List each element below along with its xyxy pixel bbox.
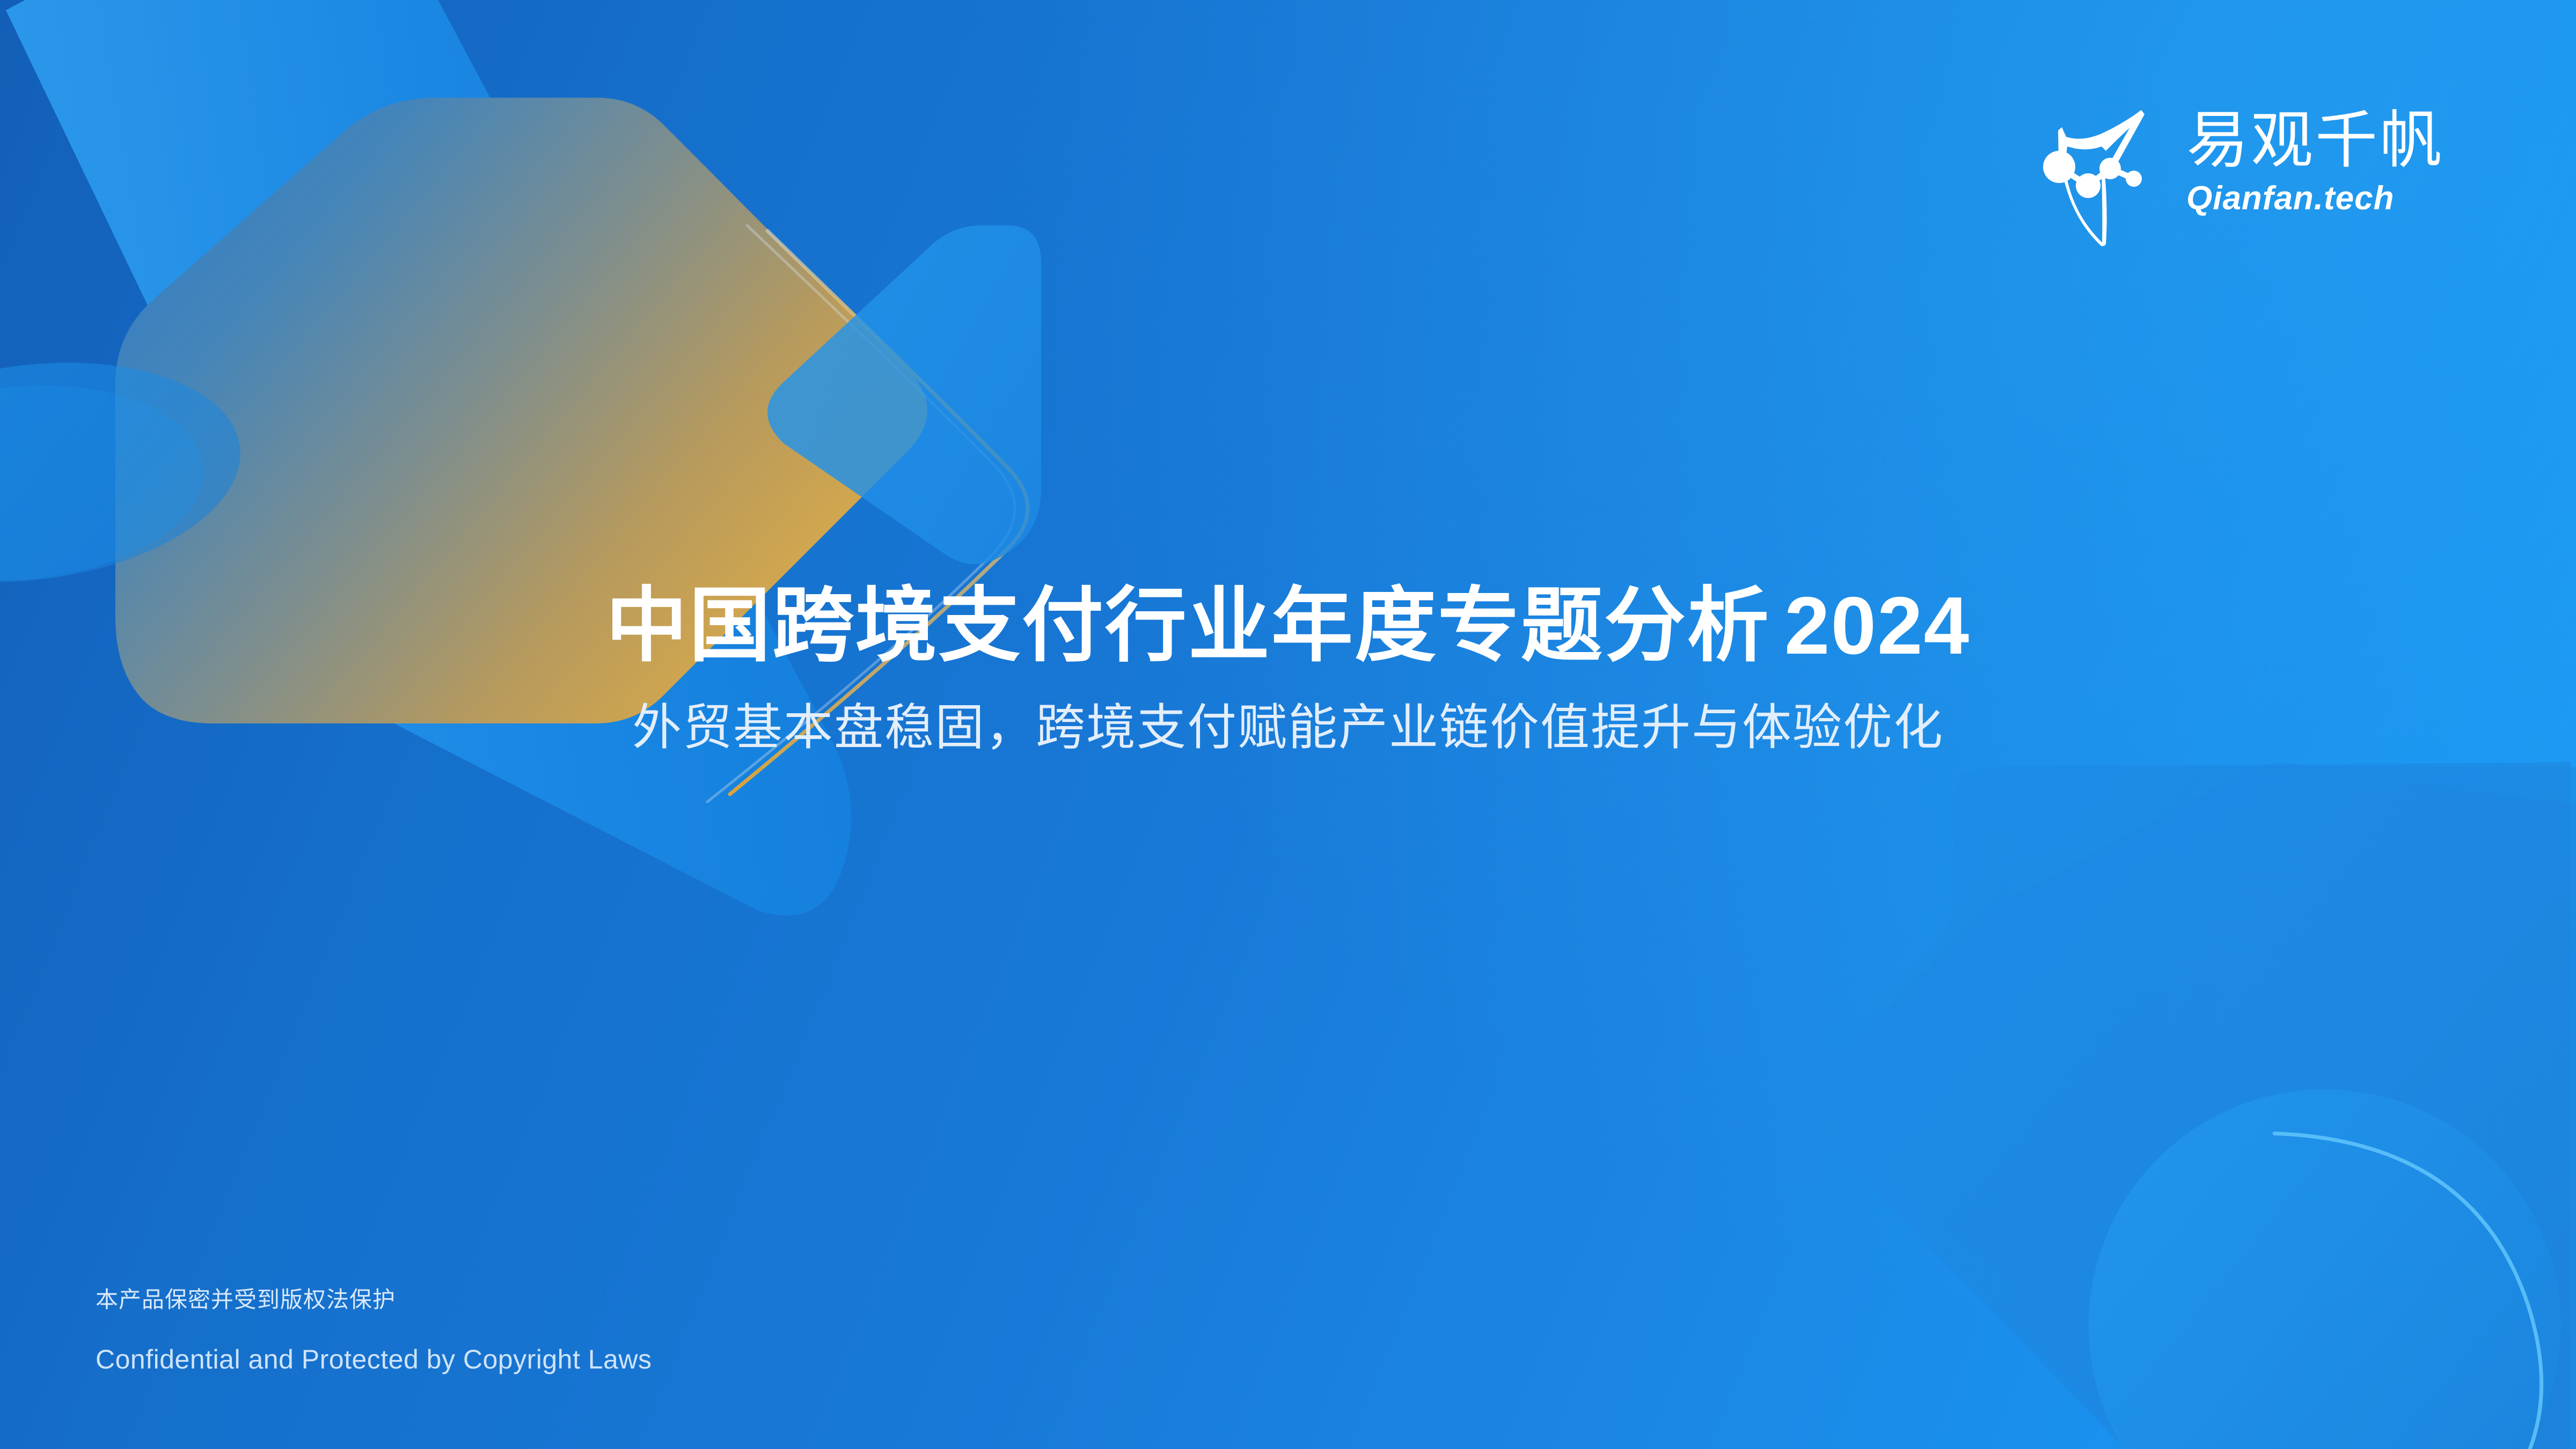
logo-chinese-name: 易观千帆 (2186, 107, 2444, 174)
main-title-text: 中国跨境支付行业年度专题分析 (606, 580, 1770, 671)
copyright-footer: 本产品保密并受到版权法保护 Confidential and Protected… (96, 1284, 652, 1378)
page-title: 中国跨境支付行业年度专题分析2024 (0, 580, 2576, 672)
qianfan-sail-network-logo-icon (2034, 99, 2168, 260)
copyright-chinese: 本产品保密并受到版权法保护 (96, 1284, 652, 1316)
logo-text: 易观千帆 Qianfan.tech (2186, 99, 2444, 217)
title-year: 2024 (1770, 580, 1970, 671)
slide-canvas: 易观千帆 Qianfan.tech 中国跨境支付行业年度专题分析2024 外贸基… (0, 0, 2576, 1449)
page-subtitle: 外贸基本盘稳固，跨境支付赋能产业链价值提升与体验优化 (0, 696, 2576, 760)
title-block: 中国跨境支付行业年度专题分析2024 外贸基本盘稳固，跨境支付赋能产业链价值提升… (0, 580, 2576, 760)
logo-domain: Qianfan.tech (2186, 179, 2444, 217)
qianfan-logo: 易观千帆 Qianfan.tech (2034, 99, 2444, 260)
copyright-english: Confidential and Protected by Copyright … (96, 1341, 652, 1378)
